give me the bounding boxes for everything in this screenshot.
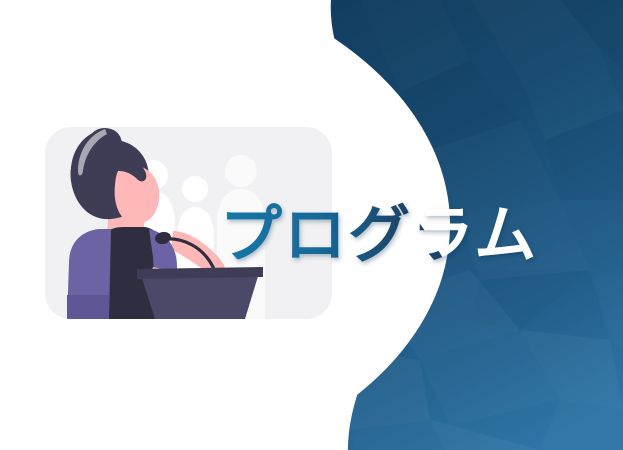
slide-canvas: プログラム プログラム — [0, 0, 623, 450]
page-title: プログラム プログラム — [216, 186, 616, 278]
